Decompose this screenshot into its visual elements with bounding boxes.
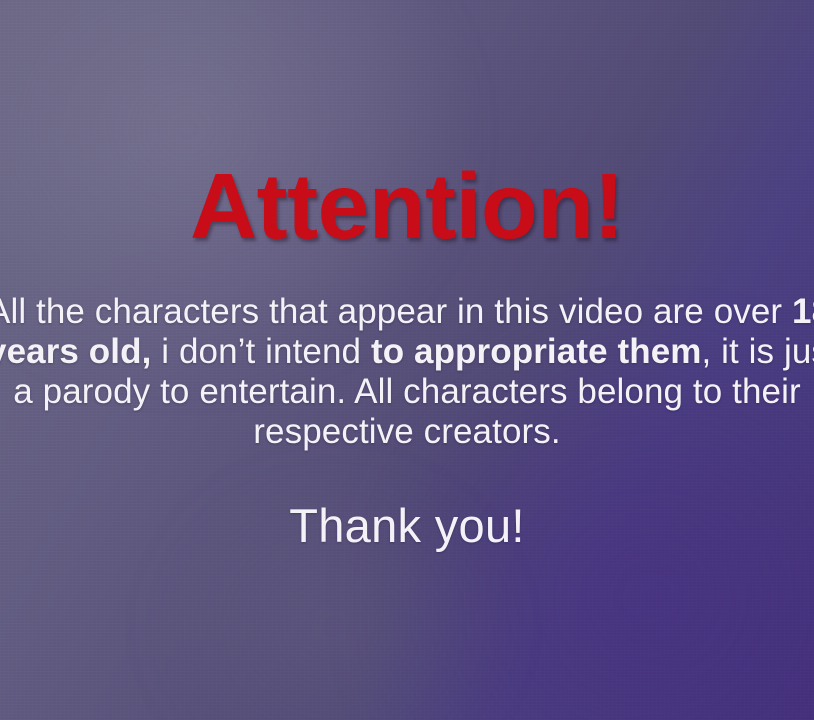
disclaimer-line-1-text: All the characters that appear in this v… [0, 292, 792, 331]
disclaimer-line-3-text: a parody to entertain. All characters be… [13, 372, 800, 411]
disclaimer-line-2-emphasis-appropriate: to appropriate them [371, 332, 702, 371]
disclaimer-line-2-text-b: , it is just [702, 332, 814, 371]
disclaimer-line-1-emphasis: 18 [792, 292, 814, 331]
disclaimer-line-4-text: respective creators. [253, 412, 560, 451]
card-content: Attention! All the characters that appea… [0, 0, 814, 720]
disclaimer-line-3: a parody to entertain. All characters be… [0, 372, 814, 412]
disclaimer-line-2: years old, i don’t intend to appropriate… [0, 332, 814, 372]
video-disclaimer-card: Attention! All the characters that appea… [0, 0, 814, 720]
disclaimer-line-4: respective creators. [0, 412, 814, 452]
closing-message: Thank you! [0, 500, 814, 552]
page-title: Attention! [0, 160, 814, 253]
disclaimer-line-2-text-a: i don’t intend [151, 332, 371, 371]
disclaimer-paragraph: All the characters that appear in this v… [0, 292, 814, 452]
disclaimer-line-1: All the characters that appear in this v… [0, 292, 814, 332]
disclaimer-line-2-emphasis-age: years old, [0, 332, 151, 371]
